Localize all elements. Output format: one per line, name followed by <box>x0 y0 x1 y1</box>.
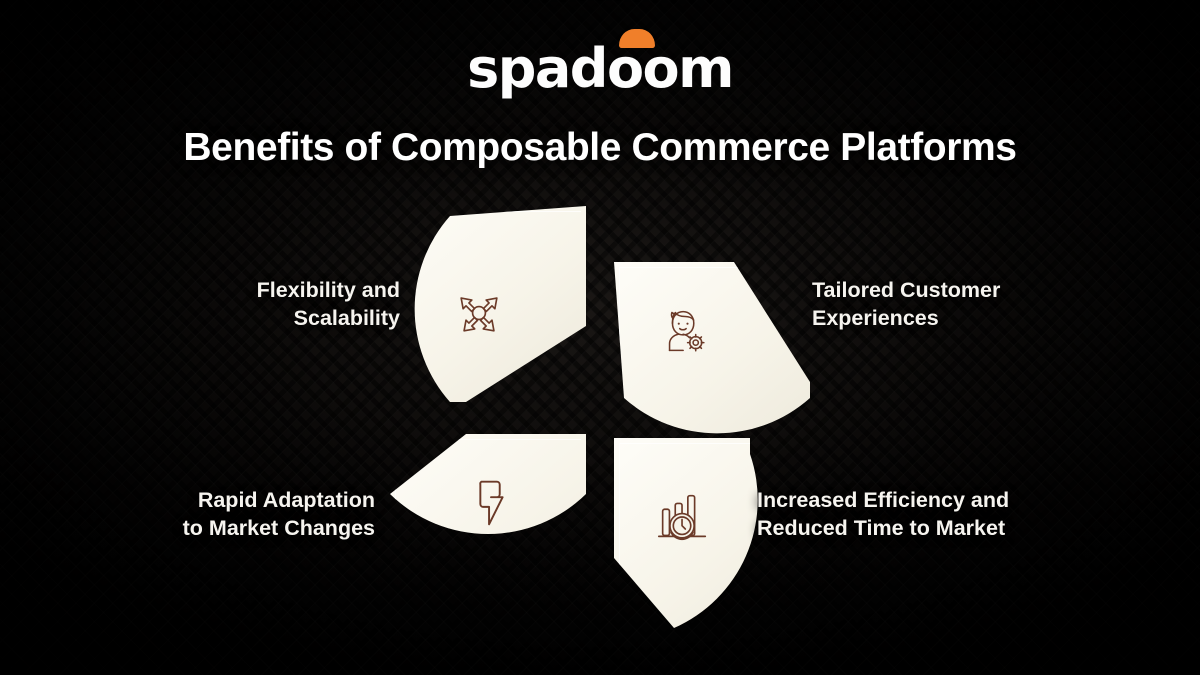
benefit-label-increased-efficiency: Increased Efficiency and Reduced Time to… <box>757 486 1117 543</box>
page-title: Benefits of Composable Commerce Platform… <box>0 126 1200 170</box>
benefit-petal-tailored-customer-experiences[interactable] <box>614 262 810 458</box>
bar-chart-clock-icon <box>652 486 714 548</box>
benefits-pinwheel <box>390 206 810 634</box>
benefit-label-rapid-adaptation: Rapid Adaptation to Market Changes <box>45 486 375 543</box>
slide-canvas: spadoom Benefits of Composable Commerce … <box>0 0 1200 675</box>
expand-arrows-icon <box>448 282 510 344</box>
user-gear-icon <box>656 300 718 362</box>
benefit-petal-rapid-adaptation[interactable] <box>390 434 586 630</box>
brand-logo-text: spadoom <box>467 42 733 96</box>
benefit-label-flexibility-scalability: Flexibility and Scalability <box>100 276 400 333</box>
lightning-bolt-icon <box>460 472 522 534</box>
brand-logo: spadoom <box>0 36 1200 96</box>
benefit-label-tailored-customer-experiences: Tailored Customer Experiences <box>812 276 1132 333</box>
orange-arc-swoosh-icon <box>619 29 655 48</box>
benefit-petal-flexibility-scalability[interactable] <box>390 206 586 402</box>
